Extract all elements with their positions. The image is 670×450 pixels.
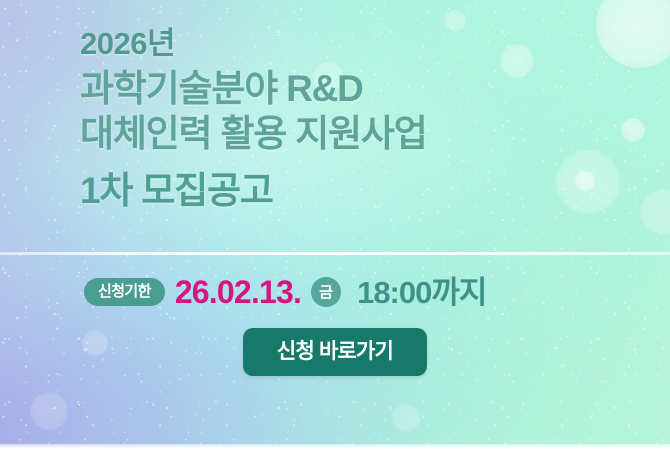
title-line1: 과학기술분야 R&D [80, 66, 427, 112]
cta-container: 신청 바로가기 [0, 328, 670, 376]
apply-now-button[interactable]: 신청 바로가기 [243, 328, 427, 376]
promo-banner: 2026년 과학기술분야 R&D 대체인력 활용 지원사업 1차 모집공고 신청… [0, 0, 670, 450]
deadline-time: 18:00까지 [357, 277, 486, 308]
title-line2: 대체인력 활용 지원사업 [80, 111, 427, 157]
bottom-white-strip [0, 444, 670, 450]
title-line3: 1차 모집공고 [80, 168, 427, 214]
title-year: 2026년 [80, 26, 427, 63]
deadline-day-badge: 금 [311, 277, 341, 307]
deadline-label-badge: 신청기한 [84, 278, 165, 306]
section-divider [0, 252, 670, 255]
deadline-date: 26.02.13. [175, 276, 301, 308]
deadline-row: 신청기한 26.02.13. 금 18:00까지 [84, 276, 486, 308]
title-block: 2026년 과학기술분야 R&D 대체인력 활용 지원사업 1차 모집공고 [80, 26, 427, 214]
